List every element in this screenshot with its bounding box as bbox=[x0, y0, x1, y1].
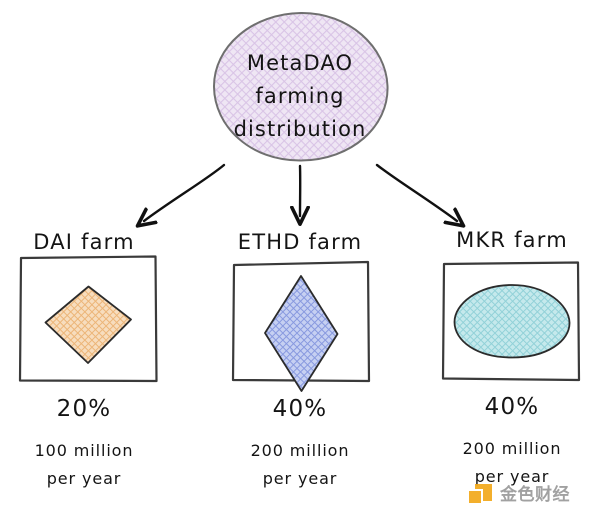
branch-amount-line2-dai: per year bbox=[47, 469, 122, 488]
root-title-line-2: farming bbox=[255, 84, 344, 108]
arrow-to-dai bbox=[144, 165, 224, 221]
diagram-canvas: MetaDAO farming distribution DAI farm 20… bbox=[0, 0, 600, 512]
branch-amount-line1-dai: 100 million bbox=[35, 441, 134, 460]
branch-box-ethd[interactable] bbox=[233, 262, 369, 391]
watermark-logo-icon bbox=[468, 482, 494, 508]
branch-percent-ethd: 40% bbox=[273, 396, 328, 422]
branch-amount-line2-ethd: per year bbox=[263, 469, 338, 488]
watermark-logo-square-solid bbox=[469, 491, 481, 503]
branch-percent-mkr: 40% bbox=[485, 394, 540, 420]
branch-percent-dai: 20% bbox=[57, 396, 112, 422]
branch-label-ethd: ETHD farm bbox=[238, 230, 363, 254]
root-title-line-3: distribution bbox=[234, 117, 367, 141]
branch-label-mkr: MKR farm bbox=[456, 228, 568, 252]
arrow-to-mkr bbox=[377, 165, 457, 221]
watermark-text: 金色财经 bbox=[500, 487, 570, 504]
watermark: 金色财经 bbox=[468, 480, 592, 510]
branch-box-mkr[interactable] bbox=[443, 263, 579, 381]
branch-amount-line1-mkr: 200 million bbox=[463, 439, 562, 458]
branch-box-dai[interactable] bbox=[20, 257, 157, 382]
branch-label-dai: DAI farm bbox=[33, 230, 135, 254]
root-title-line-1: MetaDAO bbox=[247, 51, 353, 75]
branch-shape-mkr-filled-circle bbox=[455, 285, 570, 358]
diagram-svg: MetaDAO farming distribution DAI farm 20… bbox=[0, 0, 600, 512]
branch-amount-line1-ethd: 200 million bbox=[251, 441, 350, 460]
